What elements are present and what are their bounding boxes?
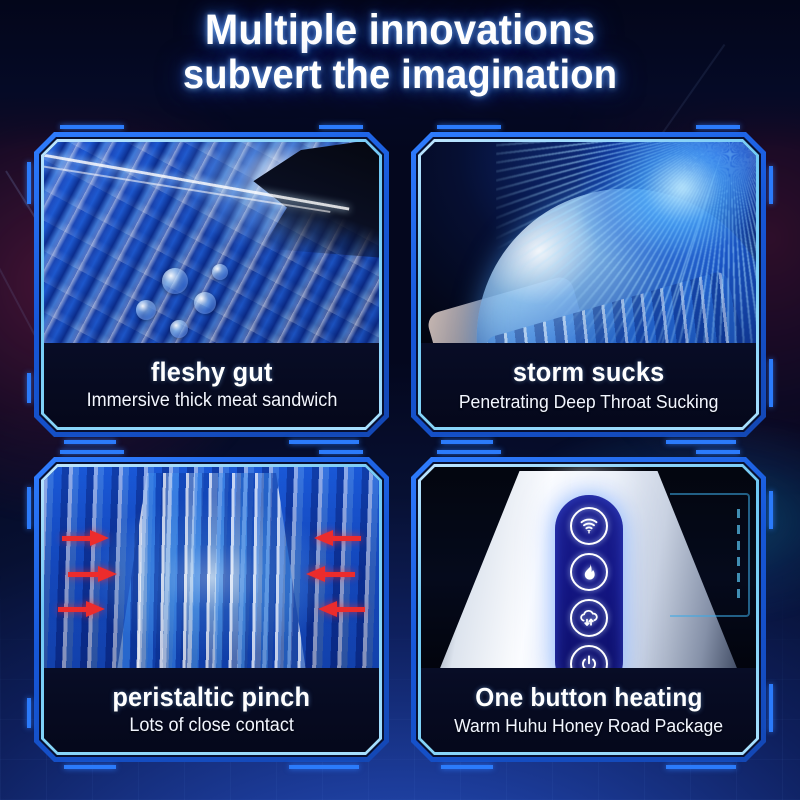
feature-card-one-button-heating[interactable]: One button heating Warm Huhu Honey Road … [411, 457, 766, 762]
card-title: peristaltic pinch [113, 683, 311, 711]
media-nub [170, 320, 188, 338]
feature-card-grid: fleshy gut Immersive thick meat sandwich [34, 132, 766, 762]
card-caption: fleshy gut Immersive thick meat sandwich [44, 343, 379, 427]
pinch-arrow-right [314, 530, 333, 546]
media-tech-bracket [670, 493, 750, 617]
frame-tick [289, 765, 359, 769]
frame-tick [769, 684, 773, 732]
frame-tick [437, 125, 501, 129]
frame-tick [289, 440, 359, 444]
frame-tick [27, 487, 31, 529]
card-media-peristaltic-pinch [44, 467, 379, 668]
card-subtitle: Warm Huhu Honey Road Package [454, 716, 723, 736]
card-body: One button heating Warm Huhu Honey Road … [421, 467, 756, 752]
card-title: storm sucks [513, 358, 665, 386]
frame-tick [64, 765, 116, 769]
frame-tick [769, 491, 773, 529]
pinch-arrow-tail [58, 607, 88, 612]
feature-card-peristaltic-pinch[interactable]: peristaltic pinch Lots of close contact [34, 457, 389, 762]
pinch-arrow-right [306, 566, 325, 582]
pinch-arrow-tail [323, 572, 355, 577]
frame-tick [769, 166, 773, 204]
feature-card-storm-sucks[interactable]: storm sucks Penetrating Deep Throat Suck… [411, 132, 766, 437]
promo-banner: Multiple innovations subvert the imagina… [0, 0, 800, 800]
frame-tick [27, 698, 31, 728]
power-icon[interactable] [570, 645, 608, 668]
pinch-arrow-tail [331, 536, 361, 541]
headline-line-2: subvert the imagination [28, 53, 772, 96]
frame-tick [666, 765, 736, 769]
frame-tick [27, 373, 31, 403]
card-body: storm sucks Penetrating Deep Throat Suck… [421, 142, 756, 427]
card-subtitle: Immersive thick meat sandwich [86, 391, 337, 412]
card-body: peristaltic pinch Lots of close contact [44, 467, 379, 752]
frame-tick [437, 450, 501, 454]
pinch-arrow-left [86, 601, 105, 617]
frame-tick [60, 125, 124, 129]
card-body: fleshy gut Immersive thick meat sandwich [44, 142, 379, 427]
card-title: One button heating [475, 684, 702, 711]
card-subtitle: Penetrating Deep Throat Sucking [459, 392, 719, 412]
frame-tick [27, 162, 31, 204]
card-media-one-button-heating [421, 467, 756, 668]
frame-tick [60, 450, 124, 454]
card-caption: One button heating Warm Huhu Honey Road … [421, 668, 756, 752]
suction-cloud-icon[interactable] [570, 599, 608, 637]
card-subtitle: Lots of close contact [129, 716, 294, 737]
frame-tick [769, 359, 773, 407]
pinch-arrow-tail [62, 536, 92, 541]
frame-tick [64, 440, 116, 444]
pinch-arrow-right [318, 601, 337, 617]
page-title: Multiple innovations subvert the imagina… [28, 8, 772, 95]
media-nub [136, 300, 156, 320]
card-media-fleshy-gut [44, 142, 379, 343]
frame-tick [666, 440, 736, 444]
media-nub [212, 264, 228, 280]
pinch-arrow-tail [68, 572, 100, 577]
media-funnel [117, 473, 307, 668]
frame-tick [319, 450, 363, 454]
media-light-burst-core [580, 142, 750, 278]
pinch-arrow-tail [335, 607, 365, 612]
pinch-arrow-left [90, 530, 109, 546]
card-caption: storm sucks Penetrating Deep Throat Suck… [421, 343, 756, 427]
device-control-panel[interactable] [555, 495, 623, 668]
feature-card-fleshy-gut[interactable]: fleshy gut Immersive thick meat sandwich [34, 132, 389, 437]
frame-tick [441, 440, 493, 444]
signal-icon[interactable] [570, 507, 608, 545]
card-media-storm-sucks [421, 142, 756, 343]
flame-icon[interactable] [570, 553, 608, 591]
frame-tick [696, 125, 740, 129]
card-caption: peristaltic pinch Lots of close contact [44, 668, 379, 752]
frame-tick [441, 765, 493, 769]
media-nub [162, 268, 188, 294]
card-title: fleshy gut [151, 358, 273, 386]
pinch-arrow-left [98, 566, 117, 582]
media-nub [194, 292, 216, 314]
frame-tick [319, 125, 363, 129]
headline-line-1: Multiple innovations [28, 8, 772, 53]
frame-tick [696, 450, 740, 454]
